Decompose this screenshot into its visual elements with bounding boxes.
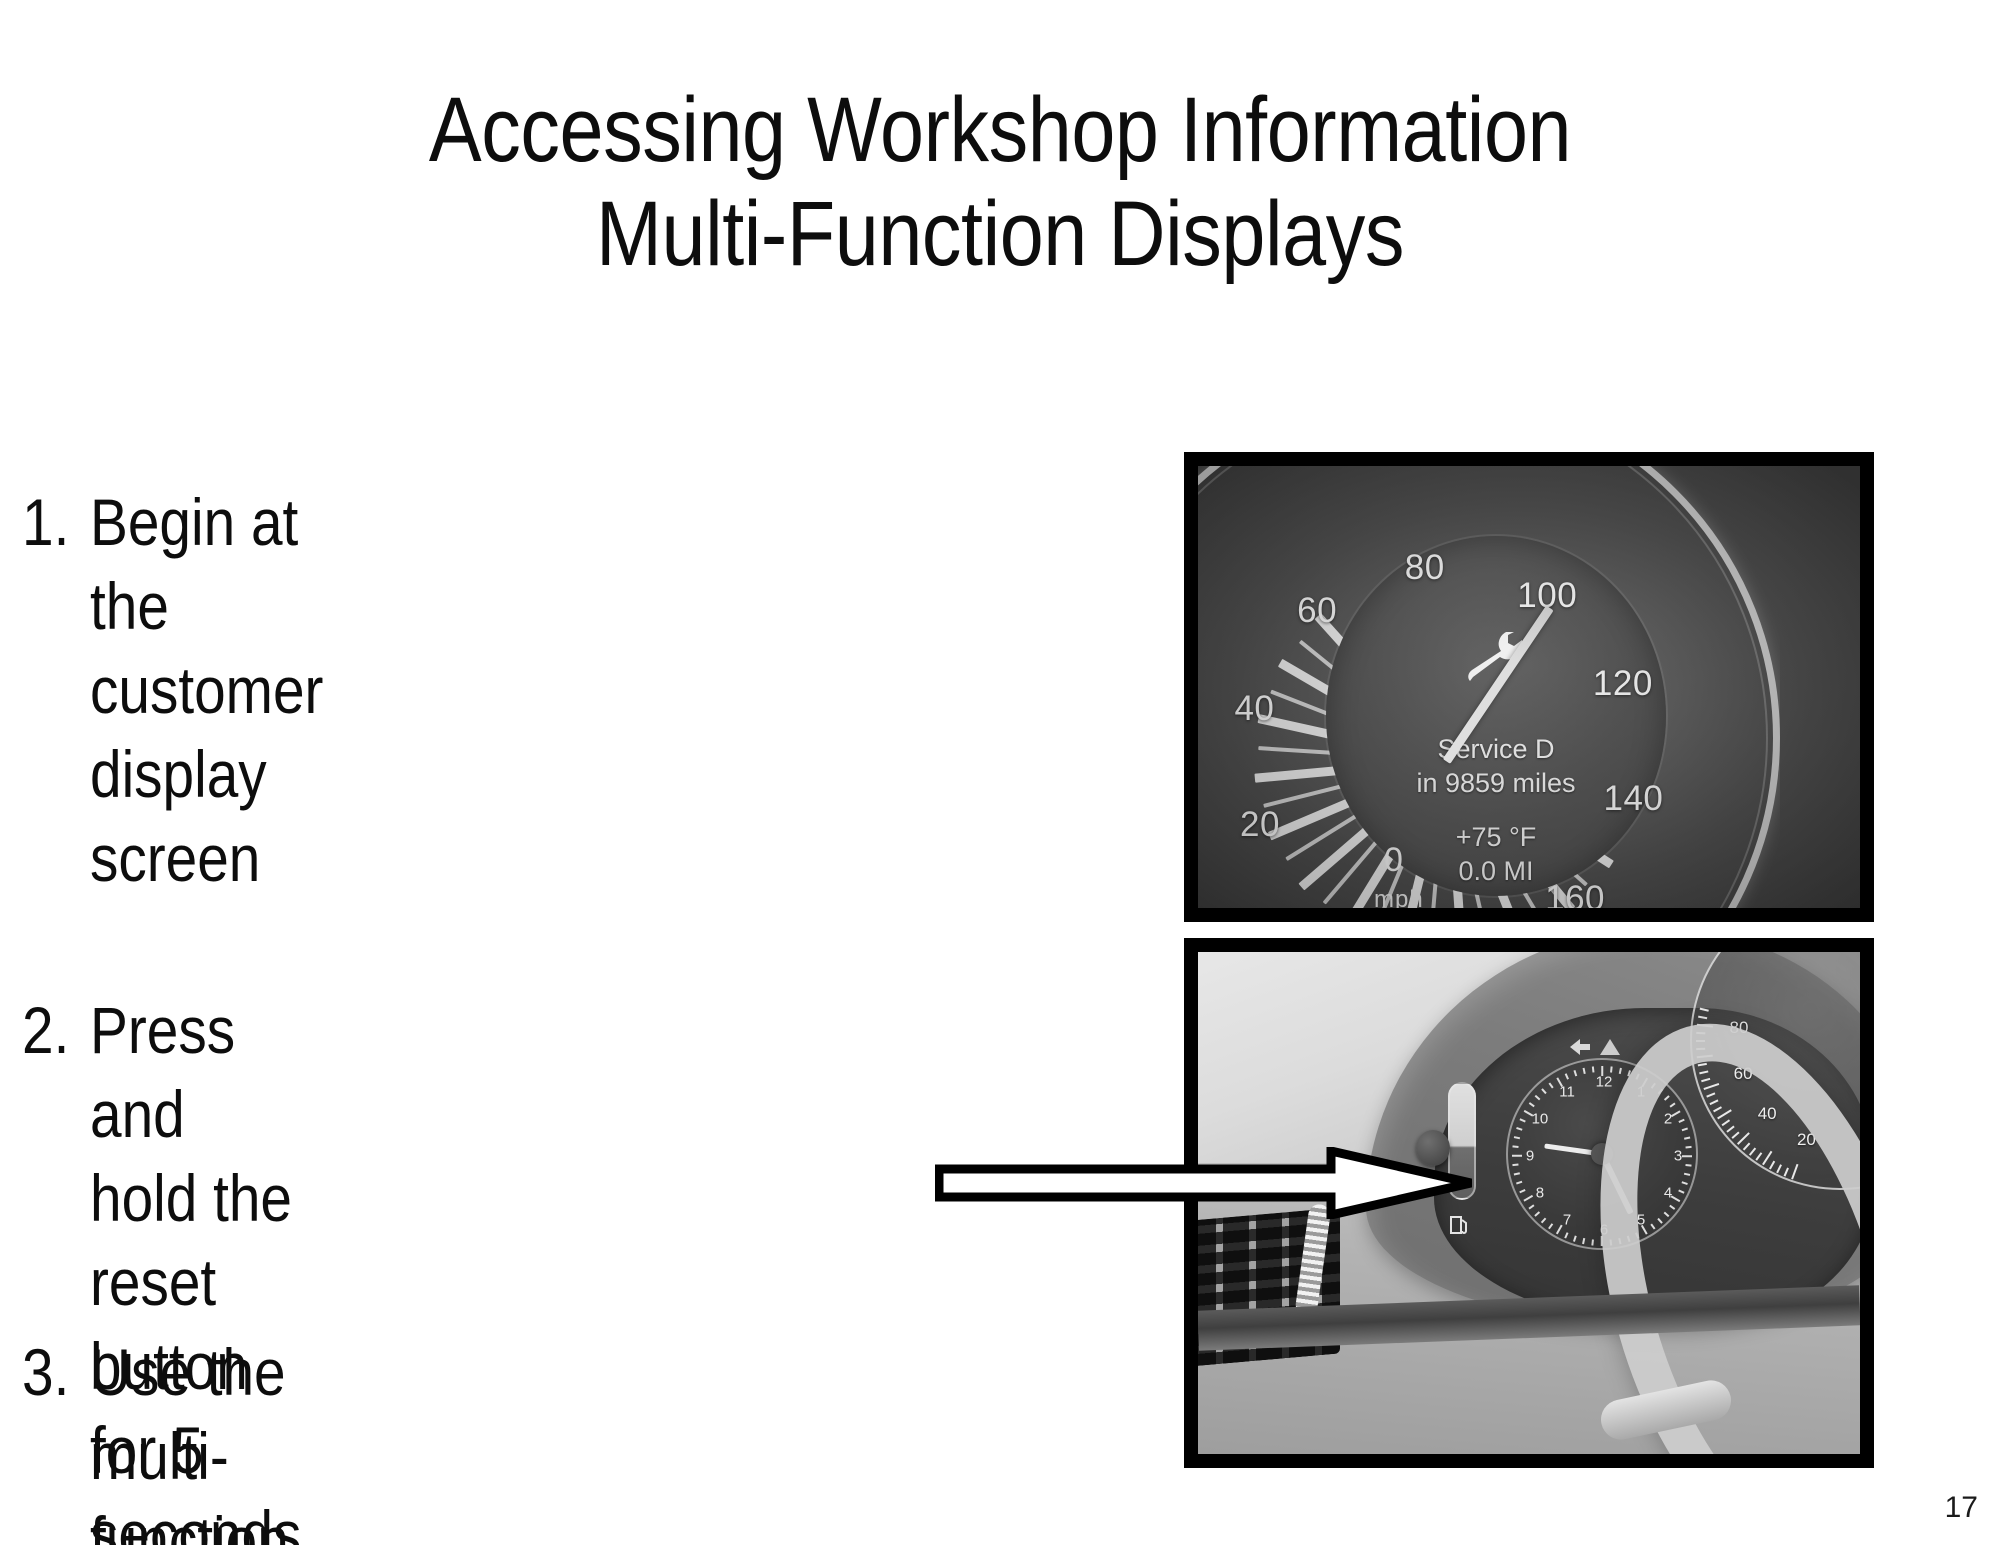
clock-numeral-7: 7 (1563, 1212, 1571, 1229)
clock-tick (1548, 1083, 1553, 1089)
clock-tick (1512, 1146, 1518, 1148)
clock-tick (1573, 1236, 1576, 1242)
indicator-icons-group (1550, 1036, 1636, 1058)
page-title: Accessing Workshop Information Multi-Fun… (0, 78, 2000, 286)
clock-tick (1592, 1239, 1594, 1245)
clock-tick (1610, 1066, 1612, 1072)
clock-tick (1524, 1195, 1533, 1201)
clock-tick (1619, 1068, 1622, 1074)
title-line-2: Multi-Function Displays (140, 182, 1860, 286)
title-line-1: Accessing Workshop Information (140, 78, 1860, 182)
clock-tick (1519, 1119, 1525, 1123)
clock-tick (1535, 1095, 1540, 1100)
clock-tick (1516, 1181, 1522, 1184)
clock-tick (1565, 1073, 1569, 1079)
step-text: Begin at the customer display screen (90, 480, 323, 900)
step-text: Use the multi-function steering wheel fo… (90, 1330, 298, 1545)
step-number: 1. (22, 480, 69, 564)
page-number: 17 (1945, 1491, 1978, 1525)
dash-speedo-tick (1700, 1008, 1709, 1012)
clock-tick (1529, 1205, 1535, 1210)
warning-triangle-icon (1600, 1039, 1620, 1055)
reset-button-arrow (935, 1147, 1475, 1219)
step-number: 3. (22, 1330, 69, 1414)
clock-tick (1573, 1070, 1576, 1076)
clock-tick (1592, 1066, 1594, 1072)
clock-tick (1583, 1068, 1586, 1074)
clock-tick (1556, 1225, 1562, 1234)
clock-tick (1514, 1173, 1520, 1176)
clock-numeral-8: 8 (1536, 1185, 1544, 1202)
clock-tick (1541, 1218, 1546, 1223)
clock-tick (1601, 1066, 1603, 1076)
clock-tick (1548, 1224, 1553, 1230)
clock-tick (1512, 1155, 1522, 1157)
clock-tick (1519, 1189, 1525, 1193)
instrument-cluster-photo: Service D in 9859 miles +75 °F 0.0 MI 20… (1184, 452, 1874, 922)
clock-tick (1529, 1102, 1535, 1107)
clock-numeral-10: 10 (1532, 1111, 1549, 1128)
clock-tick (1512, 1164, 1518, 1166)
dash-speedo-tick (1698, 1016, 1707, 1020)
cluster-vignette (1198, 466, 1860, 908)
clock-tick (1535, 1212, 1540, 1217)
clock-tick (1583, 1238, 1586, 1244)
clock-tick (1565, 1232, 1569, 1238)
left-arrow-icon (1570, 1039, 1590, 1055)
clock-tick (1541, 1089, 1546, 1094)
step-number: 2. (22, 988, 69, 1072)
clock-tick (1514, 1137, 1520, 1140)
slide-root: Accessing Workshop Information Multi-Fun… (0, 0, 2000, 1545)
clock-numeral-12: 12 (1596, 1074, 1613, 1091)
clock-tick (1516, 1127, 1522, 1130)
clock-numeral-9: 9 (1526, 1148, 1534, 1165)
